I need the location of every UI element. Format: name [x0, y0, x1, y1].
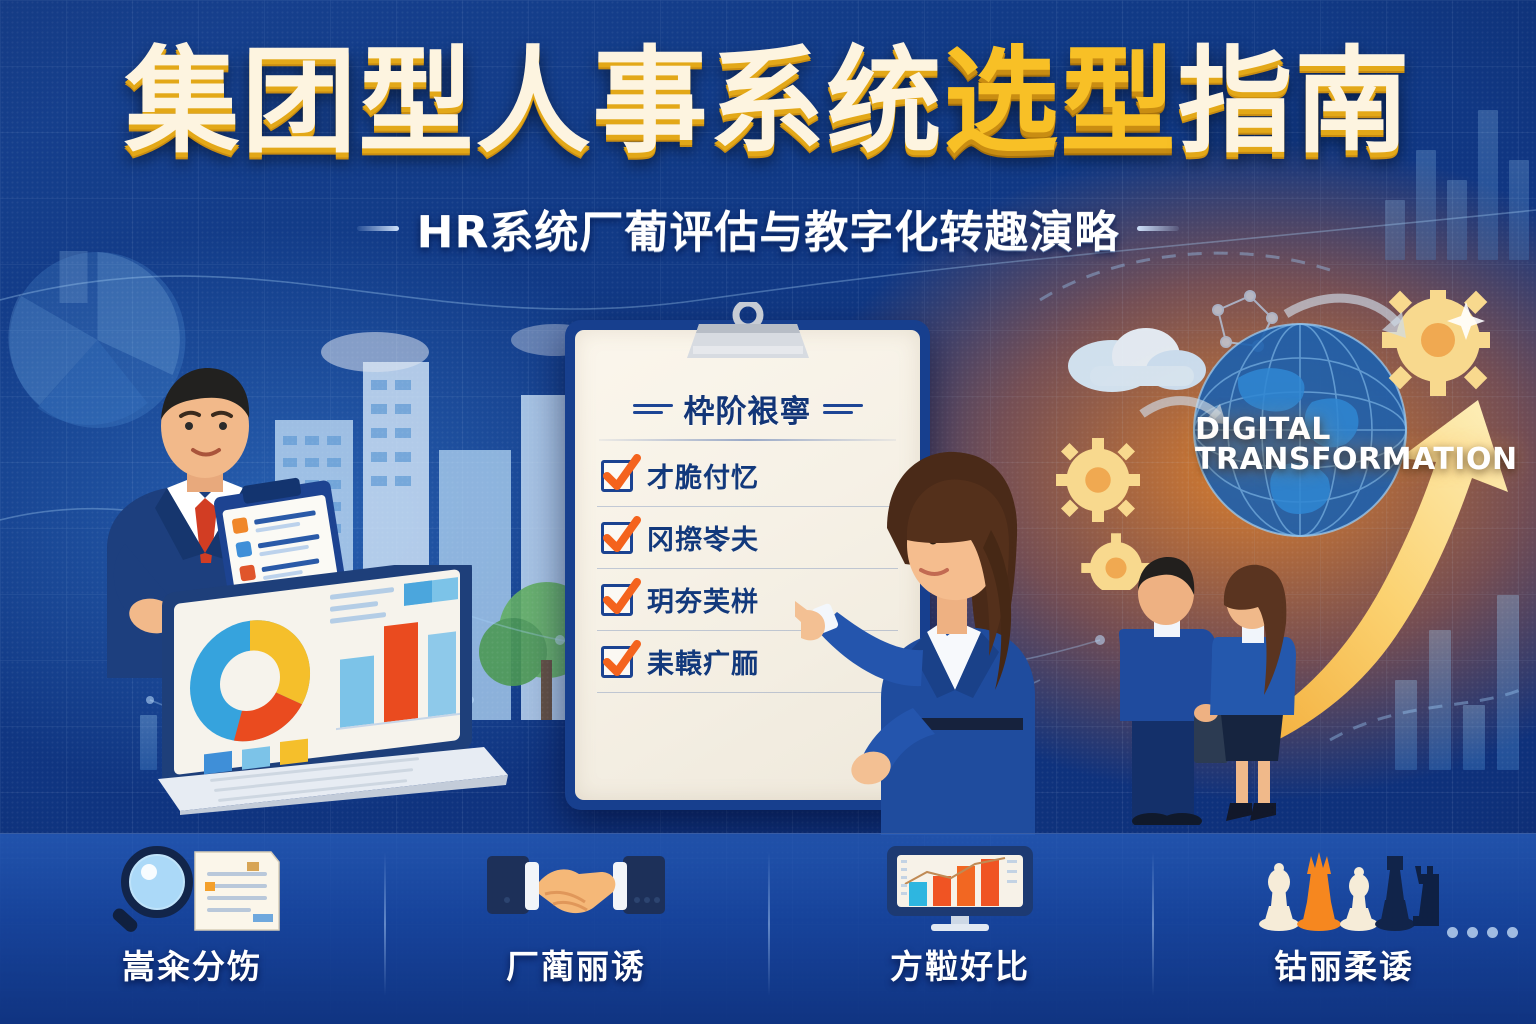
cloud-icon — [1068, 328, 1206, 392]
process-step-label: 方鞡好比 — [890, 940, 1030, 988]
process-step-1[interactable]: 嵩籴分饬 — [0, 834, 384, 1024]
title-highlight: 选型 — [943, 35, 1177, 169]
transformation-label: TRANSFORMATION — [1195, 445, 1495, 475]
checklist-item-label: 才脆付忆 — [647, 456, 759, 495]
digital-label: DIGITAL — [1195, 415, 1495, 445]
process-step-label: 嵩籴分饬 — [122, 940, 262, 988]
checkbox-checked-icon[interactable] — [601, 584, 633, 616]
bottom-process-band: 嵩籴分饬 厂蔺丽诱 — [0, 833, 1536, 1024]
checklist-item-label: 玥夯芙栟 — [647, 580, 759, 619]
chess-pieces-icon — [1249, 842, 1439, 934]
process-step-2[interactable]: 厂蔺丽诱 — [384, 834, 768, 1024]
clipboard-header: 枠阶裉寧 — [597, 386, 898, 431]
checklist-item-label: 冈摖岺夫 — [647, 518, 759, 557]
decorative-dots — [1447, 927, 1518, 938]
monitor-chart-icon — [865, 842, 1055, 934]
title-part-1: 集团型人事系统 — [124, 35, 943, 169]
subtitle-rule-right — [1137, 226, 1179, 231]
page-title: 集团型人事系统选型指南 — [0, 40, 1536, 164]
subtitle-rule-left — [357, 226, 399, 231]
digital-transformation-label: DIGITAL TRANSFORMATION — [1195, 415, 1495, 475]
poster-root: 集团型人事系统选型指南 HR系统厂葡评估与教字化转趣演略 — [0, 0, 1536, 1024]
title-block: 集团型人事系统选型指南 — [0, 40, 1536, 164]
subtitle-block: HR系统厂葡评估与教字化转趣演略 — [0, 196, 1536, 260]
page-subtitle: HR系统厂葡评估与教字化转趣演略 — [417, 196, 1120, 260]
process-step-3[interactable]: 方鞡好比 — [768, 834, 1152, 1024]
magnifier-document-icon — [97, 842, 287, 934]
clipboard-heading: 枠阶裉寧 — [684, 386, 812, 431]
businesswoman-illustration — [795, 440, 1095, 835]
header-rule-left — [633, 404, 673, 414]
process-step-label: 厂蔺丽诱 — [506, 940, 646, 988]
header-rule-right — [823, 404, 863, 414]
laptop-dashboard — [150, 565, 510, 815]
checkbox-checked-icon[interactable] — [601, 646, 633, 678]
checkbox-checked-icon[interactable] — [601, 460, 633, 492]
checklist-item-label: 耒轅疒胹 — [647, 642, 759, 681]
checkbox-checked-icon[interactable] — [601, 522, 633, 554]
clipboard-clip-icon — [669, 302, 827, 364]
handshake-icon — [481, 842, 671, 934]
title-part-2: 指南 — [1178, 35, 1412, 169]
process-step-label: 钴丽柔诿 — [1274, 940, 1414, 988]
business-couple-illustration — [1110, 555, 1330, 825]
